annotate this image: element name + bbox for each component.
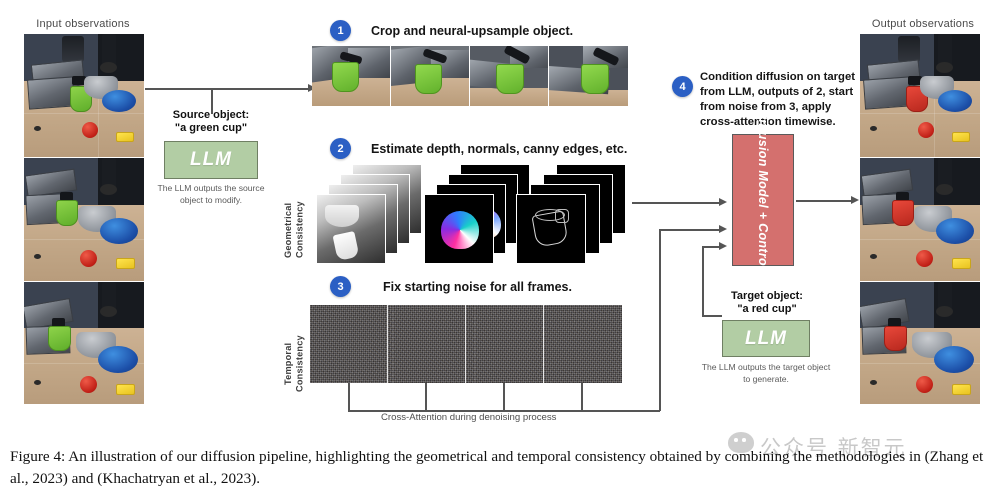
target-to-model-arrowhead [719,242,727,250]
xattn-tick-2 [425,383,427,411]
target-llm-label: LLM [745,328,787,350]
output-observations-header: Output observations [858,18,988,30]
model-to-output-line [796,200,854,202]
temporal-consistency-label: TemporalConsistency [283,320,305,408]
step-1-label: Crop and neural-upsample object. [371,24,573,38]
output-frame-1 [860,34,980,157]
figure-caption: Figure 4: An illustration of our diffusi… [10,446,990,490]
crop-frame-3 [470,46,549,106]
target-object-title: Target object: [712,290,822,302]
xattn-riser [659,229,661,411]
input-frame-1 [24,34,144,157]
output-frame-3 [860,282,980,404]
xattn-to-model-line [659,229,722,231]
source-object-value: "a green cup" [151,122,271,134]
geometry-to-model-line [632,202,722,204]
noise-frame-4 [544,305,622,383]
step-4-badge: 4 [672,76,693,97]
depth-map-front [316,194,386,264]
input-frame-2 [24,158,144,281]
target-object-stem [702,288,704,316]
crop-frame-1 [312,46,391,106]
diffusion-model-box[interactable]: Diffusion Model + ControlNet [732,134,794,266]
output-red-cup-3 [884,326,907,351]
source-llm-label: LLM [190,149,232,171]
step-4-label: Condition diffusion on target from LLM, … [700,70,858,130]
output-frame-2 [860,158,980,281]
step-3-label: Fix starting noise for all frames. [383,280,572,294]
input-observations-column [24,34,144,404]
source-object-title: Source object: [151,109,271,121]
noise-frame-1 [310,305,388,383]
input-frame-3 [24,282,144,404]
xattn-tick-4 [581,383,583,411]
target-llm-note: The LLM outputs the target object to gen… [701,362,831,385]
input-to-crop-line [145,88,310,90]
crop-frame-2 [391,46,470,106]
step-3-badge: 3 [330,276,351,297]
diffusion-model-label: Diffusion Model + ControlNet [756,110,770,291]
noise-frame-2 [388,305,466,383]
depth-map-stack [316,164,426,264]
cross-attention-label: Cross-Attention during denoising process [381,412,556,423]
step-2-number: 2 [337,143,343,155]
source-llm-box[interactable]: LLM [164,141,258,179]
step-3-number: 3 [337,281,343,293]
target-label-connector [702,315,722,317]
canny-edge-stack [516,164,631,264]
normal-map-front [424,194,494,264]
xattn-tick-3 [503,383,505,411]
source-llm-note: The LLM outputs the source object to mod… [146,183,276,206]
xattn-to-model-arrowhead [719,225,727,233]
figure-canvas: Input observations [0,0,1000,499]
noise-frame-3 [466,305,544,383]
geometry-to-model-arrowhead [719,198,727,206]
output-observations-column [860,34,980,404]
step-2-label: Estimate depth, normals, canny edges, et… [371,142,627,156]
target-llm-box[interactable]: LLM [722,320,810,357]
crop-frame-4 [549,46,628,106]
output-red-cup-2 [892,200,914,226]
step-2-badge: 2 [330,138,351,159]
input-observations-header: Input observations [18,18,148,30]
target-object-value: "a red cup" [712,303,822,315]
step-4-number: 4 [679,81,685,93]
step-1-badge: 1 [330,20,351,41]
crop-frames-row [312,46,628,106]
model-to-output-arrowhead [851,196,859,204]
geometrical-consistency-label: GeometricalConsistency [283,180,305,280]
xattn-tick-1 [348,383,350,411]
step-1-number: 1 [337,25,343,37]
canny-edge-front [516,194,586,264]
noise-frames-row [310,305,622,383]
